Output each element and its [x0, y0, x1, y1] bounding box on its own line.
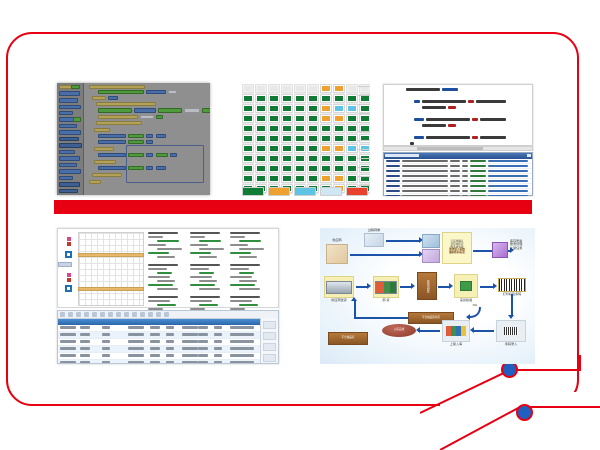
matrix-cell[interactable]	[307, 144, 319, 153]
table-row[interactable]	[58, 325, 278, 332]
block-value[interactable]	[108, 96, 118, 100]
log-token	[470, 190, 486, 192]
matrix-cell[interactable]	[294, 154, 306, 163]
screenshot-status-matrix[interactable]	[240, 80, 370, 198]
grid-toolbar-button[interactable]	[116, 312, 121, 317]
matrix-cell[interactable]	[333, 154, 345, 163]
node-unload[interactable]	[373, 276, 399, 298]
log-token	[402, 160, 448, 162]
matrix-cell[interactable]	[294, 164, 306, 173]
node-doc-pane[interactable]: 订货单确认送货单核对作业单生成整单录入系统编制条码标签	[442, 232, 472, 264]
palette-block[interactable]	[59, 169, 81, 174]
block-control[interactable]	[98, 115, 138, 119]
block-value[interactable]	[146, 134, 153, 138]
matrix-cell[interactable]	[268, 164, 280, 173]
palette-block[interactable]	[59, 111, 73, 115]
status-matrix-grid[interactable]	[242, 84, 370, 193]
table-cell	[198, 361, 208, 364]
matrix-cell[interactable]	[333, 84, 345, 93]
palette-block[interactable]	[59, 105, 81, 109]
gantt-timeline[interactable]	[57, 228, 279, 308]
matrix-cell[interactable]	[242, 114, 254, 123]
block-statement[interactable]	[98, 90, 144, 94]
gantt-text-line	[148, 252, 169, 254]
matrix-cell[interactable]	[242, 94, 254, 103]
code-line-token	[426, 136, 470, 139]
legend-swatch-failed	[346, 187, 368, 196]
matrix-cell[interactable]	[294, 114, 306, 123]
palette-block[interactable]	[59, 91, 80, 96]
matrix-cell[interactable]	[294, 124, 306, 133]
gantt-marker[interactable]	[67, 273, 71, 277]
matrix-cell[interactable]	[281, 144, 293, 153]
palette-block[interactable]	[59, 156, 80, 161]
node-incoming-check-label: 来货检验	[452, 299, 480, 302]
screenshot-blocks-editor[interactable]	[57, 83, 210, 195]
gantt-marker[interactable]	[67, 278, 71, 282]
gantt-side-label	[58, 262, 72, 267]
matrix-cell[interactable]	[268, 84, 280, 93]
matrix-cell[interactable]	[268, 94, 280, 103]
block-statement[interactable]	[128, 140, 144, 144]
matrix-cell[interactable]	[333, 104, 345, 113]
matrix-cell[interactable]	[320, 174, 332, 183]
palette-block[interactable]	[59, 182, 80, 187]
table-cell	[198, 340, 208, 343]
palette-block[interactable]	[59, 150, 75, 154]
matrix-cell[interactable]	[294, 144, 306, 153]
matrix-cell[interactable]	[255, 144, 267, 153]
gantt-text-heading	[148, 296, 178, 298]
log-token	[450, 185, 460, 187]
block-control[interactable]	[94, 160, 116, 164]
log-token	[450, 180, 460, 182]
gantt-text-line	[239, 304, 258, 306]
block-control[interactable]	[96, 121, 142, 125]
table-cell	[102, 340, 110, 343]
gantt-text-line	[157, 272, 172, 274]
matrix-cell[interactable]	[307, 134, 319, 143]
log-token	[470, 160, 486, 162]
gantt-text-line	[239, 288, 260, 290]
log-token	[450, 160, 460, 162]
code-line-token	[414, 118, 424, 121]
matrix-cell[interactable]	[242, 134, 254, 143]
matrix-cell[interactable]	[294, 94, 306, 103]
gantt-text-line	[190, 300, 212, 302]
matrix-cell[interactable]	[307, 94, 319, 103]
gantt-marker[interactable]	[67, 242, 71, 246]
matrix-cell[interactable]	[268, 124, 280, 133]
matrix-cell[interactable]	[242, 174, 254, 183]
matrix-cell[interactable]	[333, 94, 345, 103]
matrix-cell[interactable]	[346, 104, 358, 113]
arrow-head	[470, 327, 474, 333]
block-control[interactable]	[94, 147, 114, 151]
node-putaway-label: 上架入库	[440, 343, 472, 346]
table-row[interactable]	[58, 346, 278, 353]
grid-toolbar-button[interactable]	[100, 312, 105, 317]
code-line-token	[414, 136, 424, 139]
table-cell	[214, 340, 222, 343]
grid-toolbar-button[interactable]	[156, 312, 161, 317]
grid-toolbar-button[interactable]	[76, 312, 81, 317]
table-row[interactable]	[58, 360, 278, 364]
palette-block[interactable]	[59, 124, 77, 128]
log-token	[488, 190, 528, 192]
grid-toolbar-button[interactable]	[132, 312, 137, 317]
table-cell	[102, 347, 110, 350]
node-barcode-print[interactable]	[498, 278, 526, 292]
matrix-cell[interactable]	[281, 134, 293, 143]
arrow-head	[351, 297, 357, 301]
grid-side-buttons[interactable]	[260, 318, 278, 363]
grid-toolbar-button[interactable]	[108, 312, 113, 317]
table-cell	[80, 361, 90, 364]
matrix-cell[interactable]	[346, 94, 358, 103]
matrix-cell[interactable]	[320, 144, 332, 153]
matrix-cell[interactable]	[320, 164, 332, 173]
gantt-text-line	[190, 236, 205, 238]
arrow-head	[449, 283, 453, 289]
node-supplier-delivery[interactable]	[324, 276, 354, 298]
matrix-cell[interactable]	[255, 154, 267, 163]
palette-block[interactable]	[71, 85, 80, 89]
matrix-cell[interactable]	[281, 164, 293, 173]
table-cell	[214, 347, 222, 350]
gantt-bar[interactable]	[78, 253, 144, 257]
matrix-cell[interactable]	[268, 144, 280, 153]
gantt-text-line	[199, 280, 217, 282]
table-cell	[182, 340, 198, 343]
blocks-palette[interactable]	[57, 83, 84, 195]
blocks-workspace[interactable]	[84, 83, 210, 195]
matrix-cell[interactable]	[294, 104, 306, 113]
screenshot-gantt-and-table[interactable]	[57, 228, 279, 364]
matrix-cell[interactable]	[320, 104, 332, 113]
table-cell	[166, 340, 174, 343]
node-reject-store[interactable]: 不合格品库	[328, 332, 368, 345]
matrix-cell[interactable]	[346, 144, 358, 153]
matrix-cell[interactable]	[242, 124, 254, 133]
block-statement[interactable]	[98, 108, 132, 113]
code-line-token	[468, 100, 474, 103]
grid-toolbar[interactable]	[58, 311, 278, 319]
gantt-bar[interactable]	[78, 287, 144, 291]
matrix-cell[interactable]	[333, 164, 345, 173]
matrix-cell[interactable]	[242, 154, 254, 163]
gantt-text-line	[199, 288, 220, 290]
matrix-cell[interactable]	[333, 134, 345, 143]
table-cell	[150, 361, 160, 364]
gantt-text-line	[148, 276, 170, 278]
matrix-cell[interactable]	[307, 104, 319, 113]
block-value[interactable]	[146, 90, 166, 94]
node-scale-station-icon[interactable]	[364, 233, 384, 247]
grid-toolbar-button[interactable]	[60, 312, 65, 317]
grid-toolbar-button[interactable]	[148, 312, 153, 317]
block-value[interactable]	[98, 166, 126, 170]
table-cell	[80, 326, 90, 329]
node-barcode-scan-label: 条码录入	[494, 343, 528, 346]
block-value[interactable]	[134, 108, 156, 113]
grid-toolbar-button[interactable]	[84, 312, 89, 317]
matrix-cell[interactable]	[307, 124, 319, 133]
gantt-text-line	[199, 240, 221, 242]
gantt-text-heading	[148, 264, 178, 266]
grid-toolbar-button[interactable]	[124, 312, 129, 317]
matrix-cell[interactable]	[333, 114, 345, 123]
log-token	[386, 190, 400, 192]
doc-pane-line: 编制条码标签	[449, 252, 465, 255]
arrow-supplier-to-reception	[350, 254, 420, 256]
table-cell	[198, 347, 208, 350]
palette-block[interactable]	[59, 137, 79, 141]
console-log-panel[interactable]	[383, 152, 533, 196]
matrix-cell[interactable]	[320, 124, 332, 133]
log-token	[488, 180, 528, 182]
gantt-text-line	[157, 288, 178, 290]
matrix-cell[interactable]	[307, 114, 319, 123]
table-cell	[60, 340, 76, 343]
log-token	[402, 165, 448, 167]
code-line-token	[476, 100, 506, 103]
grid-toolbar-button[interactable]	[68, 312, 73, 317]
matrix-cell[interactable]	[307, 174, 319, 183]
log-token	[450, 195, 460, 196]
matrix-cell[interactable]	[281, 114, 293, 123]
gantt-text-line	[190, 276, 212, 278]
matrix-cell[interactable]	[268, 154, 280, 163]
node-inbound-done[interactable]: 入库完成	[382, 324, 416, 337]
log-token	[470, 180, 486, 182]
palette-block[interactable]	[59, 130, 81, 135]
palette-block[interactable]	[59, 189, 78, 193]
arrow-putaway-to-done	[418, 330, 440, 332]
block-control[interactable]	[94, 128, 110, 132]
matrix-cell[interactable]	[320, 134, 332, 143]
matrix-cell[interactable]	[268, 134, 280, 143]
block-statement[interactable]	[156, 115, 163, 119]
matrix-cell[interactable]	[346, 174, 358, 183]
node-erp-system-icon[interactable]	[422, 249, 440, 263]
log-token	[450, 175, 460, 177]
matrix-cell[interactable]	[333, 174, 345, 183]
palette-block[interactable]	[59, 143, 82, 148]
code-line-token	[410, 142, 414, 145]
node-supplier-desk-icon[interactable]	[326, 244, 348, 264]
screenshot-logistics-flow[interactable]: 供应商 过磅称重 订货单确认送货单核对作业单生成整单录入系统编制条码标签 库存更…	[320, 228, 535, 364]
matrix-cell[interactable]	[255, 114, 267, 123]
matrix-cell[interactable]	[294, 134, 306, 143]
gantt-text-heading	[190, 264, 220, 266]
block-text[interactable]	[184, 108, 200, 113]
matrix-cell[interactable]	[346, 164, 358, 173]
matrix-cell[interactable]	[307, 84, 319, 93]
table-cell	[182, 354, 198, 357]
log-token	[386, 175, 400, 177]
log-row[interactable]	[384, 194, 532, 196]
node-incoming-check[interactable]	[454, 274, 478, 298]
table-row[interactable]	[58, 332, 278, 339]
matrix-cell[interactable]	[294, 84, 306, 93]
log-token	[488, 185, 528, 187]
log-token	[402, 190, 448, 192]
code-line-token	[422, 124, 446, 127]
screenshot-code-editor[interactable]	[383, 84, 533, 196]
log-token	[386, 180, 400, 182]
node-inspect-zone[interactable]: 检验待检区	[417, 272, 437, 300]
grid-side-button[interactable]	[263, 332, 276, 340]
block-control[interactable]	[89, 180, 101, 184]
matrix-row-labels	[358, 86, 370, 186]
block-statement[interactable]	[128, 134, 144, 138]
slide-canvas: 供应商 过磅称重 订货单确认送货单核对作业单生成整单录入系统编制条码标签 库存更…	[0, 0, 600, 450]
block-text[interactable]	[168, 90, 177, 94]
gantt-text-line	[230, 252, 251, 254]
records-data-grid[interactable]	[57, 310, 279, 364]
node-erp-outputs-icon[interactable]	[492, 242, 508, 258]
gantt-text-line	[230, 244, 248, 246]
block-control[interactable]	[96, 102, 156, 106]
erp-output-line: 上架任务	[510, 247, 534, 250]
block-text[interactable]	[140, 115, 154, 119]
node-barcode-scan[interactable]	[496, 320, 526, 342]
matrix-cell[interactable]	[281, 124, 293, 133]
code-text-area[interactable]	[383, 84, 533, 146]
block-value[interactable]	[98, 153, 126, 157]
gantt-text-line	[148, 300, 170, 302]
block-value[interactable]	[98, 140, 126, 144]
grid-toolbar-button[interactable]	[140, 312, 145, 317]
log-token	[402, 170, 448, 172]
gantt-text-line	[148, 268, 167, 270]
matrix-cell[interactable]	[242, 84, 254, 93]
matrix-cell[interactable]	[320, 84, 332, 93]
table-cell	[166, 354, 174, 357]
matrix-cell[interactable]	[255, 134, 267, 143]
log-token	[470, 185, 486, 187]
gantt-text-line	[190, 252, 211, 254]
log-token	[462, 185, 468, 187]
matrix-cell[interactable]	[307, 164, 319, 173]
table-row[interactable]	[58, 353, 278, 360]
matrix-cell[interactable]	[333, 124, 345, 133]
table-cell	[244, 340, 254, 343]
matrix-cell[interactable]	[255, 124, 267, 133]
gantt-node[interactable]	[65, 251, 72, 258]
matrix-cell[interactable]	[346, 154, 358, 163]
block-statement[interactable]	[202, 108, 210, 113]
table-cell	[80, 340, 90, 343]
matrix-cell[interactable]	[333, 144, 345, 153]
matrix-cell[interactable]	[255, 94, 267, 103]
gantt-node[interactable]	[65, 285, 72, 292]
palette-block[interactable]	[73, 117, 81, 122]
matrix-cell[interactable]	[281, 104, 293, 113]
matrix-cell[interactable]	[281, 174, 293, 183]
matrix-cell[interactable]	[255, 174, 267, 183]
matrix-cell[interactable]	[281, 84, 293, 93]
arrow-head	[416, 327, 420, 333]
matrix-cell[interactable]	[255, 104, 267, 113]
palette-block[interactable]	[59, 176, 73, 180]
matrix-cell[interactable]	[281, 94, 293, 103]
decorative-dot-lower	[516, 404, 533, 421]
matrix-cell[interactable]	[242, 144, 254, 153]
gantt-text-heading	[230, 296, 260, 298]
matrix-cell[interactable]	[268, 174, 280, 183]
table-cell	[244, 354, 254, 357]
grid-side-button[interactable]	[263, 321, 276, 329]
matrix-cell[interactable]	[346, 134, 358, 143]
log-token	[386, 195, 400, 196]
node-putaway[interactable]	[442, 320, 470, 342]
matrix-cell[interactable]	[320, 114, 332, 123]
matrix-cell[interactable]	[346, 124, 358, 133]
code-line-token	[422, 100, 466, 103]
block-value[interactable]	[146, 140, 153, 144]
block-event[interactable]	[89, 85, 145, 89]
matrix-cell[interactable]	[307, 154, 319, 163]
matrix-cell[interactable]	[320, 94, 332, 103]
grid-side-button[interactable]	[263, 354, 276, 362]
matrix-cell[interactable]	[294, 174, 306, 183]
palette-block[interactable]	[59, 98, 78, 103]
matrix-cell[interactable]	[242, 164, 254, 173]
matrix-cell[interactable]	[346, 84, 358, 93]
grid-toolbar-button[interactable]	[92, 312, 97, 317]
table-cell	[150, 326, 160, 329]
log-token	[462, 160, 468, 162]
block-value[interactable]	[98, 134, 126, 138]
log-token	[488, 195, 528, 196]
code-horizontal-scrollbar[interactable]	[383, 146, 533, 151]
palette-block[interactable]	[59, 163, 77, 167]
log-token	[402, 185, 448, 187]
matrix-cell[interactable]	[320, 154, 332, 163]
gantt-text-line	[190, 284, 215, 286]
grid-toolbar-button[interactable]	[164, 312, 169, 317]
block-value[interactable]	[156, 134, 166, 138]
matrix-cell[interactable]	[268, 114, 280, 123]
table-row[interactable]	[58, 339, 278, 346]
block-control[interactable]	[92, 96, 106, 100]
block-statement[interactable]	[158, 108, 182, 113]
matrix-cell[interactable]	[268, 104, 280, 113]
log-row-list[interactable]	[384, 159, 532, 196]
matrix-cell[interactable]	[255, 84, 267, 93]
gantt-text-line	[199, 304, 218, 306]
table-cell	[244, 361, 254, 364]
gantt-text-line	[157, 248, 182, 250]
code-line-token	[472, 136, 478, 139]
log-token	[462, 190, 468, 192]
arrow-head	[508, 315, 514, 319]
matrix-cell[interactable]	[255, 164, 267, 173]
matrix-cell[interactable]	[281, 154, 293, 163]
grid-row-list[interactable]	[58, 325, 278, 364]
matrix-cell[interactable]	[242, 104, 254, 113]
node-reception-desk-icon[interactable]	[422, 234, 440, 248]
matrix-cell[interactable]	[346, 114, 358, 123]
table-cell	[244, 333, 254, 336]
grid-side-button[interactable]	[263, 343, 276, 351]
gantt-text-line	[230, 268, 249, 270]
gantt-marker[interactable]	[67, 237, 71, 241]
block-control[interactable]	[92, 173, 122, 177]
status-matrix-legend	[242, 187, 368, 196]
